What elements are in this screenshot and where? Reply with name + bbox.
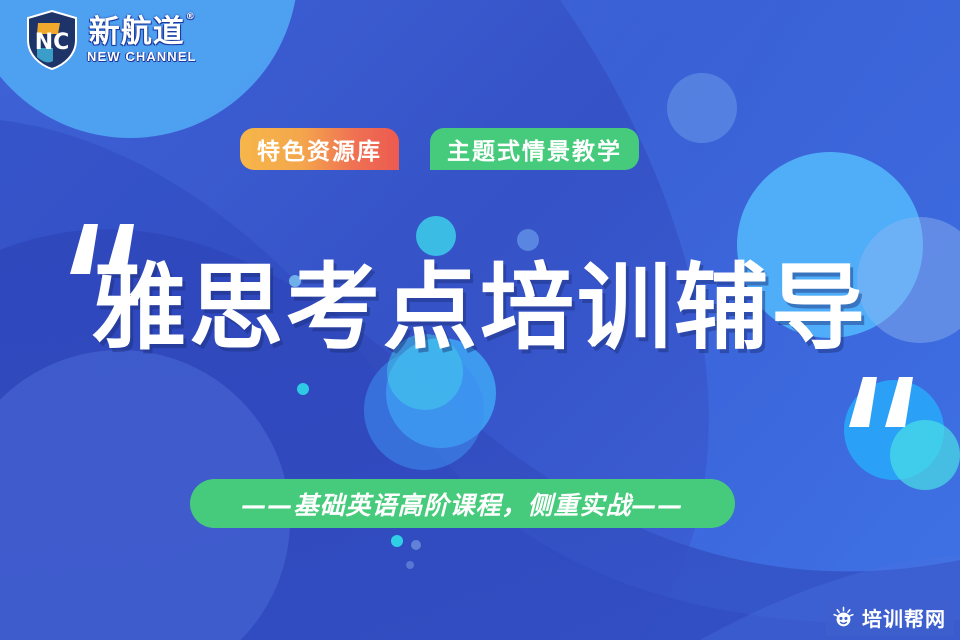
decor-dot-mid-d <box>297 383 309 395</box>
sun-face-icon <box>832 606 855 629</box>
subtitle-pill: ——基础英语高阶课程，侧重实战—— <box>190 479 735 528</box>
shield-nc-icon: NC <box>26 10 78 70</box>
promo-banner: NC 新航道® NEW CHANNEL 特色资源库 主题式情景教学 雅思考点培训… <box>0 0 960 640</box>
subtitle-text: ——基础英语高阶课程，侧重实战—— <box>241 486 683 522</box>
brand-name-cn: 新航道® <box>89 17 195 48</box>
feature-tag-row: 特色资源库 主题式情景教学 <box>240 128 639 170</box>
brand-wordmark: 新航道® NEW CHANNEL <box>87 17 197 63</box>
decor-dot-bottom-a <box>391 535 403 547</box>
watermark-text: 培训帮网 <box>862 603 946 632</box>
site-watermark: 培训帮网 <box>826 599 954 636</box>
feature-tag-thematic-teaching[interactable]: 主题式情景教学 <box>430 128 639 170</box>
brand-logo: NC 新航道® NEW CHANNEL <box>26 10 197 70</box>
decor-circle-quote-b <box>890 420 960 490</box>
headline-title: 雅思考点培训辅导 <box>0 262 960 356</box>
registered-mark: ® <box>186 12 196 22</box>
decor-dot-bottom-b <box>411 540 421 550</box>
svg-text:NC: NC <box>35 30 70 55</box>
feature-tag-resource-library[interactable]: 特色资源库 <box>240 128 399 170</box>
close-quote-icon <box>845 375 923 427</box>
decor-circle-mid-a <box>416 216 456 256</box>
decor-circle-mid-b <box>517 229 539 251</box>
decor-circle-upperright-c <box>667 73 737 143</box>
brand-name-en: NEW CHANNEL <box>87 50 197 63</box>
decor-dot-bottom-c <box>406 561 414 569</box>
